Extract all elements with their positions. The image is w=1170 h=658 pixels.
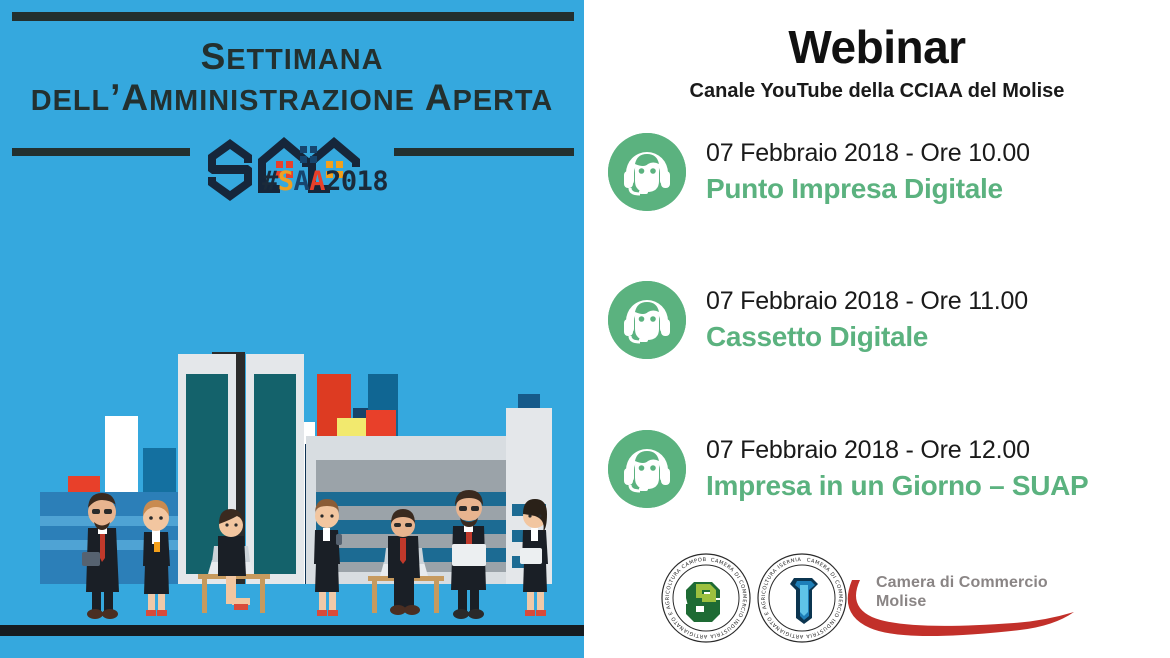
session-topic: Cassetto Digitale	[706, 319, 1028, 354]
saa-s-glyph	[208, 139, 252, 201]
hashtag-letter-a2: A	[309, 166, 325, 197]
headset-operator-icon	[608, 133, 686, 211]
cc-line-2: Molise	[876, 593, 1048, 612]
camera-commercio-molise-logo: Camera di Commercio Molise	[846, 560, 1146, 646]
headset-operator-icon	[608, 281, 686, 359]
ground-line	[0, 625, 584, 636]
session-item[interactable]: 07 Febbraio 2018 - Ore 12.00 Impresa in …	[608, 430, 1168, 508]
person-businesswoman-2	[300, 486, 352, 625]
footer-logos: CAMERA DI COMMERCIO INDUSTRIA ARTIGIANAT…	[584, 544, 1170, 654]
person-businesswoman-1	[130, 488, 182, 625]
mid-divider-rule-left	[12, 148, 190, 156]
campaign-title-line-2: DELL’AMMINISTRAZIONE APERTA	[0, 79, 584, 117]
session-topic: Punto Impresa Digitale	[706, 171, 1030, 206]
seal-isernia: CAMERA DI COMMERCIO INDUSTRIA ARTIGIANAT…	[756, 552, 848, 644]
poster-root: SETTIMANA DELL’AMMINISTRAZIONE APERTA	[0, 0, 1170, 658]
person-seated-woman-laptop	[188, 502, 280, 625]
hashtag-symbol: #	[262, 166, 278, 197]
house-0-window-d	[310, 156, 317, 163]
session-datetime: 07 Febbraio 2018 - Ore 11.00	[706, 286, 1028, 317]
person-businessman-1	[74, 480, 130, 625]
hashtag-year: 2018	[325, 166, 388, 197]
person-businessman-tablet	[438, 478, 500, 625]
session-text: 07 Febbraio 2018 - Ore 11.00 Cassetto Di…	[706, 286, 1028, 354]
house-0-window-a	[300, 146, 307, 153]
session-datetime: 07 Febbraio 2018 - Ore 12.00	[706, 435, 1088, 466]
campaign-title-line-2-text: DELL’AMMINISTRAZIONE APERTA	[31, 77, 554, 118]
right-info-panel: Webinar Canale YouTube della CCIAA del M…	[584, 0, 1170, 658]
skyline-bar-chart	[0, 228, 584, 658]
session-datetime: 07 Febbraio 2018 - Ore 10.00	[706, 138, 1030, 169]
campaign-hashtag: #SAA2018	[262, 168, 388, 195]
house-0-window-b	[310, 146, 317, 153]
camera-commercio-molise-text: Camera di Commercio Molise	[876, 574, 1048, 612]
session-text: 07 Febbraio 2018 - Ore 10.00 Punto Impre…	[706, 138, 1030, 206]
headset-operator-icon	[608, 430, 686, 508]
house-0-window-c	[300, 156, 307, 163]
page-subtitle: Canale YouTube della CCIAA del Molise	[584, 80, 1170, 103]
seal-campobasso: CAMERA DI COMMERCIO INDUSTRIA ARTIGIANAT…	[660, 552, 752, 644]
campaign-title-line-1: SETTIMANA	[0, 38, 584, 76]
session-topic: Impresa in un Giorno – SUAP	[706, 468, 1088, 503]
mid-divider-rule-right	[394, 148, 574, 156]
campaign-title-line-1-text: SETTIMANA	[201, 36, 384, 77]
top-divider-rule	[12, 12, 574, 21]
person-businesswoman-3	[508, 486, 560, 625]
hashtag-letter-a1: A	[294, 166, 310, 197]
left-graphic-panel: SETTIMANA DELL’AMMINISTRAZIONE APERTA	[0, 0, 584, 658]
session-text: 07 Febbraio 2018 - Ore 12.00 Impresa in …	[706, 435, 1088, 503]
session-item[interactable]: 07 Febbraio 2018 - Ore 11.00 Cassetto Di…	[608, 281, 1168, 359]
session-item[interactable]: 07 Febbraio 2018 - Ore 10.00 Punto Impre…	[608, 133, 1168, 211]
campaign-title-block: SETTIMANA DELL’AMMINISTRAZIONE APERTA	[0, 38, 584, 116]
hashtag-letter-s: S	[278, 166, 294, 197]
page-title: Webinar	[584, 20, 1170, 74]
cc-line-1: Camera di Commercio	[876, 574, 1048, 593]
